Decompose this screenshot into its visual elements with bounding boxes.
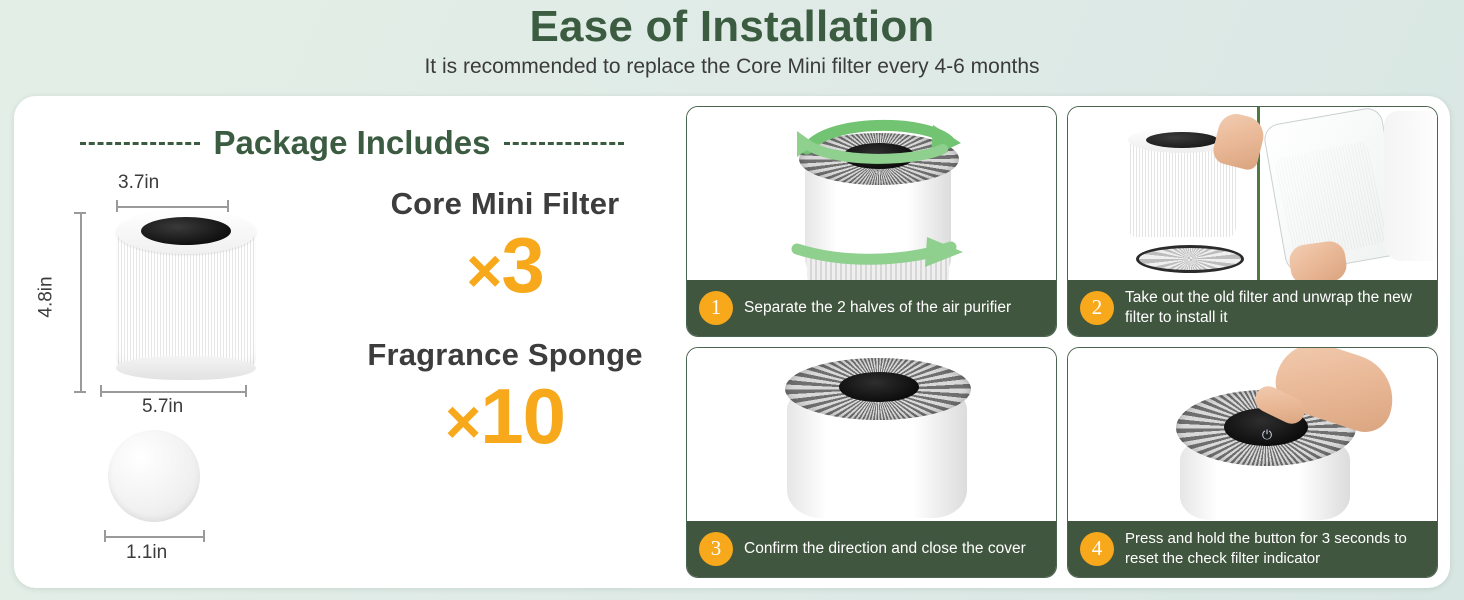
- power-button-icon[interactable]: ⏻: [1260, 428, 1274, 442]
- step-card-3: 3 Confirm the direction and close the co…: [686, 347, 1057, 578]
- sponge-item-block: Fragrance Sponge ×10: [338, 337, 672, 454]
- sponge-diameter-label: 1.1in: [126, 542, 167, 564]
- filter-diagram: 3.7in 4.8in 5.7in: [32, 178, 332, 428]
- step-4-caption: 4 Press and hold the button for 3 second…: [1068, 521, 1437, 577]
- sponge-width-line: [104, 536, 204, 538]
- page-title: Ease of Installation: [0, 4, 1464, 51]
- filter-top-width-label: 3.7in: [118, 172, 159, 194]
- dashed-rule-right: [504, 142, 624, 145]
- purifier-control-panel-closed: [839, 372, 919, 402]
- page-header: Ease of Installation It is recommended t…: [0, 0, 1464, 79]
- sponge-width-tick-left: [104, 530, 106, 542]
- sponge-item-name: Fragrance Sponge: [338, 337, 672, 373]
- step-2-photo: [1068, 107, 1437, 280]
- filter-item-block: Core Mini Filter ×3: [338, 186, 672, 303]
- filter-height-tick-top: [74, 212, 86, 214]
- step-3-caption: 3 Confirm the direction and close the co…: [687, 521, 1056, 577]
- step-2-text: Take out the old filter and unwrap the n…: [1125, 288, 1427, 328]
- package-contents: 3.7in 4.8in 5.7in: [32, 168, 672, 578]
- sponge-item-count: ×10: [338, 379, 672, 454]
- step-4-number-badge: 4: [1080, 532, 1114, 566]
- step-card-1: 1 Separate the 2 halves of the air purif…: [686, 106, 1057, 337]
- step-card-2: 2 Take out the old filter and unwrap the…: [1067, 106, 1438, 337]
- sponge-diagram: 1.1in: [32, 428, 332, 578]
- core-mini-filter-image: [110, 208, 262, 378]
- filter-height-label: 4.8in: [36, 276, 58, 317]
- filter-bottom-width-tick-right: [245, 385, 247, 397]
- filter-height-tick-bottom: [74, 391, 86, 393]
- fragrance-sponge-image: [108, 430, 200, 522]
- page-subtitle: It is recommended to replace the Core Mi…: [0, 54, 1464, 79]
- old-filter-core: [1146, 132, 1218, 148]
- purifier-partial-body: [1384, 111, 1437, 261]
- step-card-4: ⏻ 4 Press and hold the button for 3 seco…: [1067, 347, 1438, 578]
- package-visuals: 3.7in 4.8in 5.7in: [32, 168, 332, 578]
- step-2-caption: 2 Take out the old filter and unwrap the…: [1068, 280, 1437, 336]
- step-1-number-badge: 1: [699, 291, 733, 325]
- filter-item-name: Core Mini Filter: [338, 186, 672, 222]
- step-4-text: Press and hold the button for 3 seconds …: [1125, 529, 1427, 567]
- dashed-rule-left: [80, 142, 200, 145]
- package-includes-heading: Package Includes: [32, 124, 672, 162]
- step-3-photo: [687, 348, 1056, 521]
- rotate-arrow-bottom-icon: [791, 235, 971, 271]
- step-1-text: Separate the 2 halves of the air purifie…: [744, 298, 1011, 318]
- package-includes-panel: Package Includes 3.7in 4.8in: [14, 96, 682, 588]
- filter-item-count: ×3: [338, 228, 672, 303]
- filter-multiplier-symbol: ×: [466, 237, 501, 306]
- filter-carbon-core: [141, 217, 231, 245]
- filter-base-rim: [116, 356, 256, 380]
- rotate-arrow-second-icon: [791, 129, 961, 169]
- step-1-photo: [687, 107, 1056, 280]
- sponge-width-tick-right: [203, 530, 205, 542]
- sponge-count-value: 10: [480, 372, 565, 460]
- step-1-caption: 1 Separate the 2 halves of the air purif…: [687, 280, 1056, 336]
- package-includes-label: Package Includes: [214, 124, 491, 162]
- step-2-number-badge: 2: [1080, 291, 1114, 325]
- installation-steps: 1 Separate the 2 halves of the air purif…: [682, 96, 1450, 588]
- package-item-labels: Core Mini Filter ×3 Fragrance Sponge ×10: [332, 168, 672, 578]
- filter-count-value: 3: [501, 221, 543, 309]
- purifier-base-grille: [1136, 245, 1244, 273]
- filter-height-line: [80, 212, 82, 392]
- content-card: Package Includes 3.7in 4.8in: [14, 96, 1450, 588]
- filter-bottom-width-label: 5.7in: [142, 396, 183, 418]
- step-3-text: Confirm the direction and close the cove…: [744, 539, 1026, 559]
- step-3-number-badge: 3: [699, 532, 733, 566]
- filter-bottom-width-line: [100, 391, 246, 393]
- sponge-multiplier-symbol: ×: [445, 388, 480, 457]
- filter-bottom-width-tick-left: [100, 385, 102, 397]
- step-4-photo: ⏻: [1068, 348, 1437, 521]
